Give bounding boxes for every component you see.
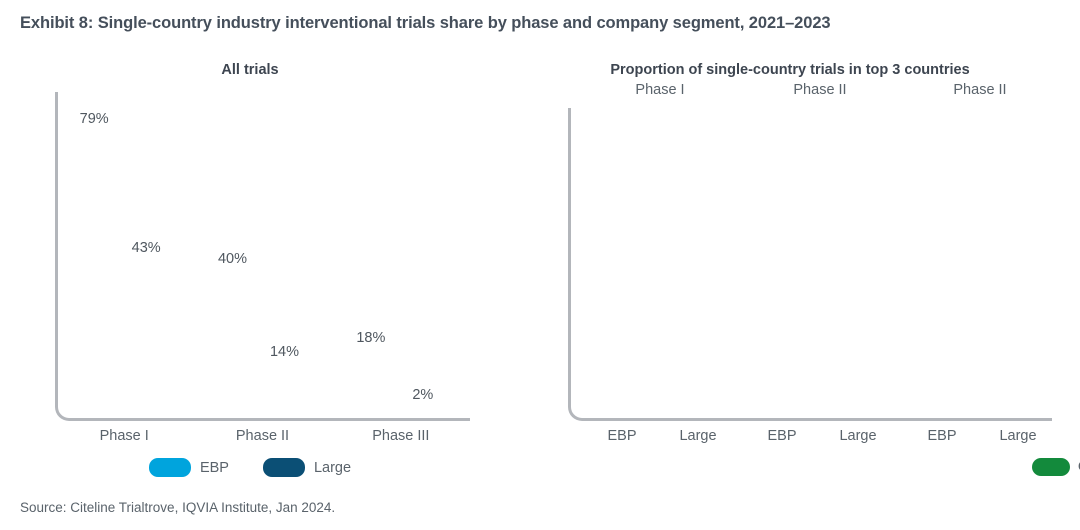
bar-value-label: 43%: [111, 240, 181, 256]
right-chart-legend: ChinaUnited StatesUnited KingdomAll othe…: [1000, 458, 1080, 476]
legend-swatch-large: [263, 458, 305, 477]
legend-item-ebp: EBP: [149, 458, 229, 477]
left-chart-legend: EBPLarge: [0, 458, 500, 477]
y-axis-line: [568, 108, 571, 404]
right-chart-title: Proportion of single-country trials in t…: [500, 62, 1080, 78]
bar-value-label: 18%: [336, 330, 406, 346]
bar-value-label: 79%: [59, 111, 129, 127]
x-axis-category-label: Phase I: [45, 428, 203, 444]
x-axis-category-label: Large: [973, 428, 1063, 444]
x-axis-line: [69, 418, 470, 421]
chart-panel-top3-countries: Proportion of single-country trials in t…: [500, 0, 1080, 530]
legend-item-china: China: [1032, 458, 1080, 476]
group-header-1: Phase I: [593, 82, 727, 98]
legend-item-large: Large: [263, 458, 351, 477]
legend-label-large: Large: [314, 460, 351, 476]
group-header-3: Phase II: [913, 82, 1047, 98]
legend-swatch-china: [1032, 458, 1070, 476]
group-header-2: Phase II: [753, 82, 887, 98]
bar-value-label: 14%: [250, 344, 320, 360]
x-axis-category-label: Large: [813, 428, 903, 444]
source-note: Source: Citeline Trialtrove, IQVIA Insti…: [20, 500, 335, 515]
x-axis-line: [582, 418, 1052, 421]
x-axis-category-label: Phase III: [322, 428, 480, 444]
legend-label-ebp: EBP: [200, 460, 229, 476]
x-axis-category-label: Phase II: [183, 428, 341, 444]
legend-swatch-ebp: [149, 458, 191, 477]
x-axis-category-label: Large: [653, 428, 743, 444]
y-axis-line: [55, 92, 58, 404]
chart-panel-all-trials: All trials 0%10%20%30%40%50%60%70%80%90%…: [0, 0, 500, 530]
bar-value-label: 2%: [388, 387, 458, 403]
bar-value-label: 40%: [198, 251, 268, 267]
left-chart-title: All trials: [10, 62, 490, 78]
